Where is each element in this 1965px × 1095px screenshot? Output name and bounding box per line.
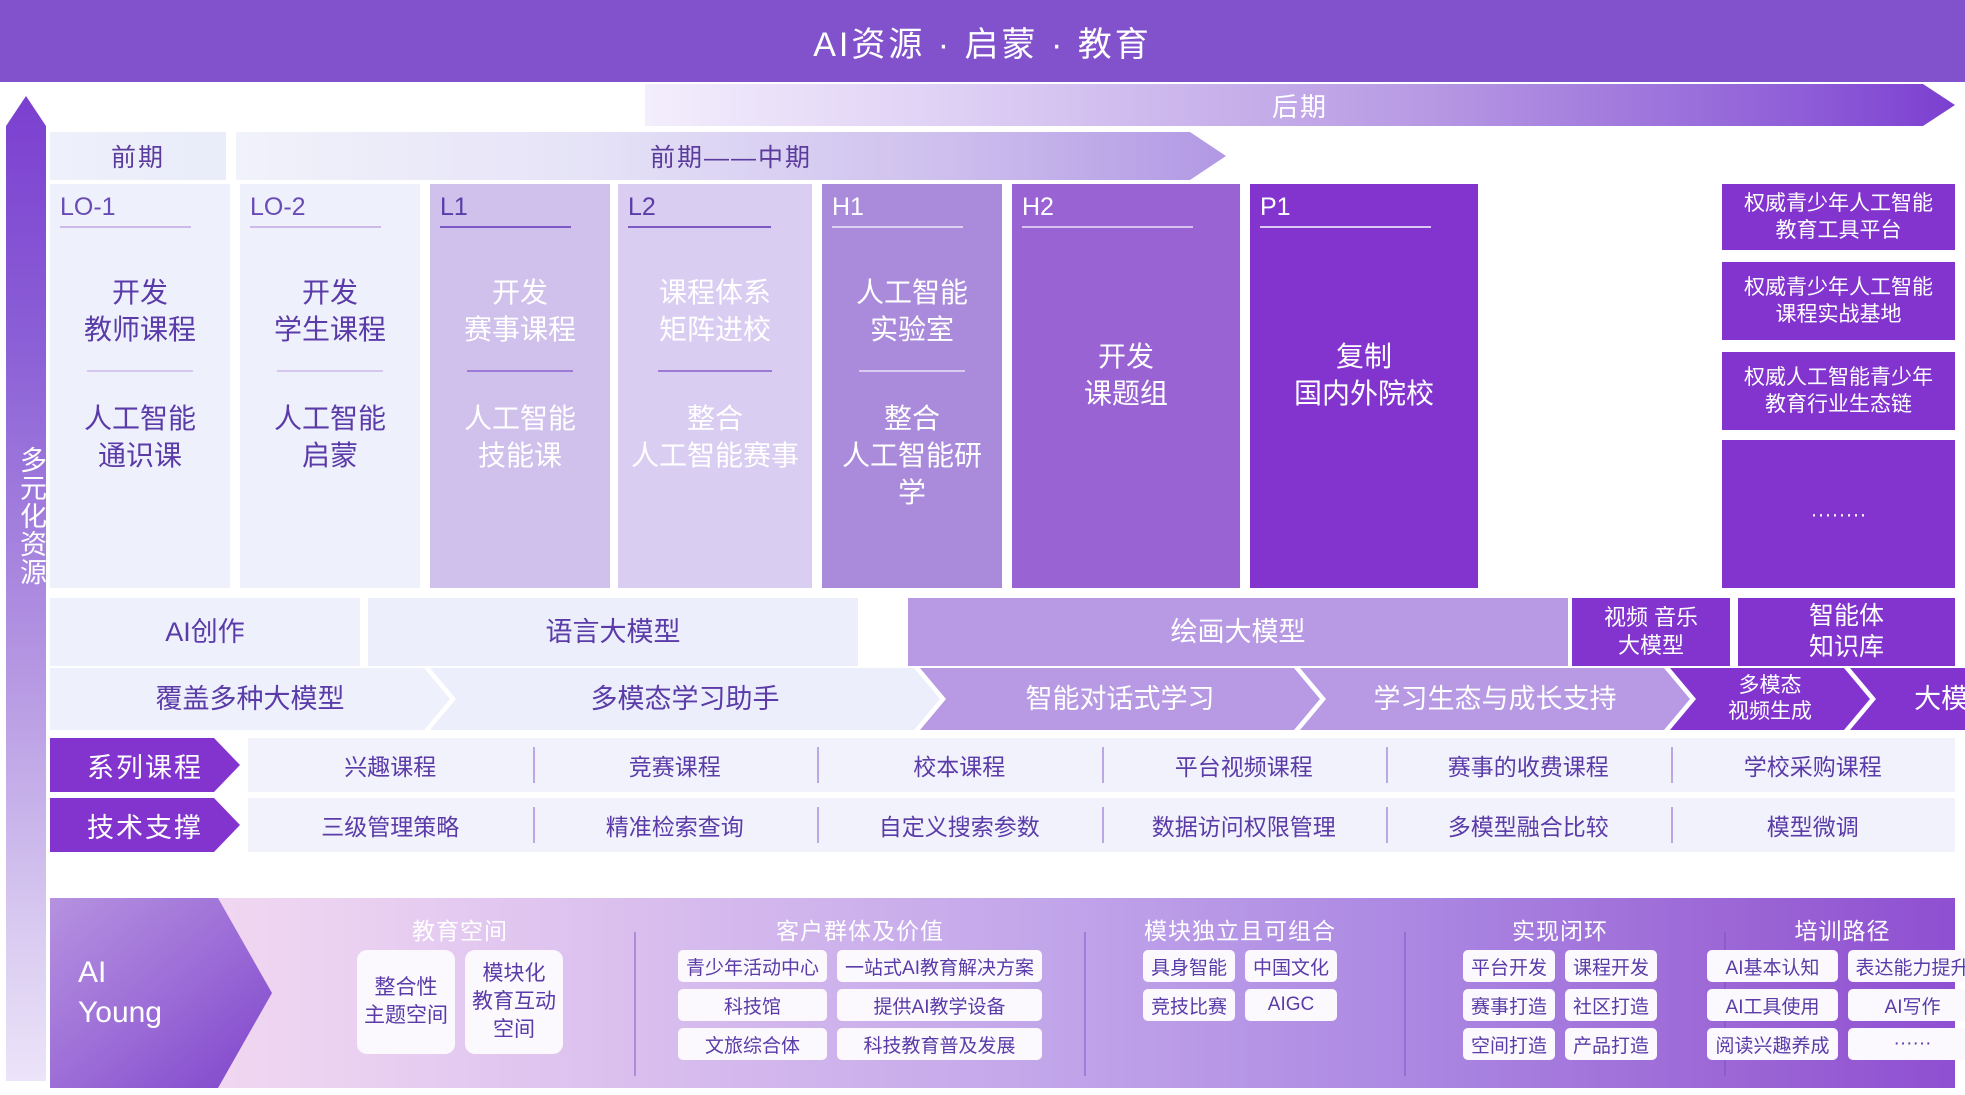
stage-card-secondary-text: 人工智能技能课 [440, 400, 600, 474]
capability-chevron[interactable]: 多模态视频生成 [1670, 668, 1870, 730]
series-course-row: 系列课程 兴趣课程竞赛课程校本课程平台视频课程赛事的收费课程学校采购课程 [50, 738, 1955, 792]
tech-support-items: 三级管理策略精准检索查询自定义搜索参数数据访问权限管理多模型融合比较模型微调 [248, 798, 1955, 852]
stage-card-code: H1 [832, 192, 963, 228]
stage-card-h1[interactable]: H1人工智能实验室整合人工智能研学 [822, 184, 1002, 588]
model-strip-label: 语言大模型 [546, 616, 681, 648]
bottom-group-title: 教育空间 [300, 912, 620, 946]
bottom-pill[interactable]: 文旅综合体 [678, 1028, 827, 1060]
stage-card-lo-2[interactable]: LO-2开发学生课程人工智能启蒙 [240, 184, 420, 588]
stage-card-divider [859, 370, 965, 372]
series-course-tag: 系列课程 [50, 738, 240, 792]
bottom-group-title: 培训路径 [1730, 912, 1955, 946]
bottom-pill[interactable]: AI基本认知 [1707, 950, 1837, 982]
bottom-group-column: AI基本认知AI工具使用阅读兴趣养成 [1707, 950, 1837, 1080]
model-strip-item[interactable]: 视频 音乐大模型 [1572, 598, 1730, 666]
series-course-cell[interactable]: 兴趣课程 [248, 738, 533, 792]
model-strip-label: 视频 音乐大模型 [1604, 604, 1698, 660]
bottom-pill[interactable]: 模块化教育互动空间 [465, 950, 563, 1054]
tech-support-cell[interactable]: 三级管理策略 [248, 798, 533, 852]
stage-card-lo-1[interactable]: LO-1开发教师课程人工智能通识课 [50, 184, 230, 588]
bottom-group: 培训路径AI基本认知AI工具使用阅读兴趣养成表达能力提升AI写作······ [1730, 898, 1955, 1088]
credential-item[interactable]: 权威青少年人工智能课程实战基地 [1722, 262, 1955, 340]
series-course-cell[interactable]: 校本课程 [817, 738, 1102, 792]
model-strip-label: 智能体知识库 [1809, 601, 1884, 663]
phase-early-label: 前期 [111, 138, 165, 174]
bottom-group-column: 一站式AI教育解决方案提供AI教学设备科技教育普及发展 [837, 950, 1042, 1080]
credential-label: ········ [1811, 501, 1867, 528]
stage-card-primary-text: 开发教师课程 [60, 274, 220, 348]
stage-card-secondary-text: 人工智能启蒙 [250, 400, 410, 474]
bottom-panel: AI Young 教育空间整合性主题空间模块化教育互动空间客户群体及价值青少年活… [50, 898, 1955, 1088]
brand-line-2: Young [78, 993, 162, 1033]
series-course-cell[interactable]: 平台视频课程 [1102, 738, 1387, 792]
capability-chevron-label: 覆盖多种大模型 [156, 684, 345, 714]
bottom-group-column: 表达能力提升AI写作······ [1848, 950, 1965, 1080]
capability-chevron[interactable]: 多模态学习助手 [430, 668, 940, 730]
stage-card-code: H2 [1022, 192, 1193, 228]
stage-card-l1[interactable]: L1开发赛事课程人工智能技能课 [430, 184, 610, 588]
credential-stack: 权威青少年人工智能教育工具平台权威青少年人工智能课程实战基地权威人工智能青少年教… [1722, 184, 1955, 588]
bottom-group-title: 客户群体及价值 [650, 912, 1070, 946]
model-strip-label: 绘画大模型 [1171, 616, 1306, 648]
tech-support-cell[interactable]: 模型微调 [1671, 798, 1956, 852]
model-strip-item[interactable]: 智能体知识库 [1738, 598, 1955, 666]
bottom-group-title: 模块独立且可组合 [1090, 912, 1390, 946]
page-header: AI资源 · 启蒙 · 教育 [0, 0, 1965, 82]
bottom-group-column: 平台开发赛事打造空间打造 [1463, 950, 1555, 1080]
credential-label: 权威青少年人工智能课程实战基地 [1744, 274, 1933, 328]
credential-item[interactable]: 权威人工智能青少年教育行业生态链 [1722, 352, 1955, 430]
page-title: AI资源 · 启蒙 · 教育 [813, 17, 1152, 66]
stage-card-secondary-text: 整合人工智能赛事 [628, 400, 802, 474]
model-strip-item[interactable]: 语言大模型 [368, 598, 858, 666]
capability-chevron-label: 大模型+ [1914, 684, 1965, 714]
model-strip-item[interactable]: AI创作 [50, 598, 360, 666]
series-course-cell[interactable]: 竞赛课程 [533, 738, 818, 792]
capability-chevron[interactable]: 学习生态与成长支持 [1300, 668, 1690, 730]
bottom-pill[interactable]: AI写作 [1848, 989, 1965, 1021]
bottom-group: 客户群体及价值青少年活动中心科技馆文旅综合体一站式AI教育解决方案提供AI教学设… [650, 898, 1070, 1088]
tech-support-tag: 技术支撑 [50, 798, 240, 852]
credential-label: 权威青少年人工智能教育工具平台 [1744, 190, 1933, 244]
capability-chevron-label: 学习生态与成长支持 [1374, 684, 1617, 714]
brand-line-1: AI [78, 953, 106, 993]
stage-card-code: LO-1 [60, 192, 191, 228]
stage-card-p1[interactable]: P1复制国内外院校 [1250, 184, 1478, 588]
bottom-pill[interactable]: AIGC [1245, 989, 1337, 1021]
series-course-items: 兴趣课程竞赛课程校本课程平台视频课程赛事的收费课程学校采购课程 [248, 738, 1955, 792]
credential-item[interactable]: 权威青少年人工智能教育工具平台 [1722, 184, 1955, 250]
bottom-group-column: 中国文化AIGC [1245, 950, 1337, 1080]
bottom-pill[interactable]: 中国文化 [1245, 950, 1337, 982]
bottom-group-divider [1404, 932, 1406, 1076]
phase-late-label: 后期 [1272, 87, 1328, 124]
stage-card-primary-text: 开发课题组 [1022, 338, 1230, 412]
sidebar-vertical-label: 多元化资源 [6, 426, 46, 606]
stage-card-primary-text: 复制国内外院校 [1260, 338, 1468, 412]
bottom-pill[interactable]: ······ [1848, 1028, 1965, 1060]
stage-card-primary-text: 开发赛事课程 [440, 274, 600, 348]
bottom-group-divider [634, 932, 636, 1076]
stage-card-secondary-text: 整合人工智能研学 [832, 400, 992, 511]
credential-item[interactable]: ········ [1722, 440, 1955, 588]
phase-banner-early: 前期 [50, 132, 226, 180]
capability-chevron-label: 智能对话式学习 [1026, 684, 1215, 714]
capability-chevron-label: 多模态学习助手 [591, 684, 780, 714]
bottom-pill[interactable]: 科技教育普及发展 [837, 1028, 1042, 1060]
tech-support-row: 技术支撑 三级管理策略精准检索查询自定义搜索参数数据访问权限管理多模型融合比较模… [50, 798, 1955, 852]
bottom-pill[interactable]: 产品打造 [1565, 1028, 1657, 1060]
bottom-group-column: 具身智能竞技比赛 [1143, 950, 1235, 1080]
capability-chevron[interactable]: 智能对话式学习 [920, 668, 1320, 730]
series-course-cell[interactable]: 学校采购课程 [1671, 738, 1956, 792]
bottom-pill[interactable]: 提供AI教学设备 [837, 989, 1042, 1021]
stage-card-divider [87, 370, 193, 372]
bottom-pill[interactable]: 社区打造 [1565, 989, 1657, 1021]
bottom-pill[interactable]: 青少年活动中心 [678, 950, 827, 982]
model-strip-label: AI创作 [165, 616, 245, 648]
capability-chevron-label: 多模态视频生成 [1728, 673, 1812, 725]
tech-support-cell[interactable]: 自定义搜索参数 [817, 798, 1102, 852]
bottom-pill[interactable]: 空间打造 [1463, 1028, 1555, 1060]
bottom-pill[interactable]: AI工具使用 [1707, 989, 1837, 1021]
bottom-pill[interactable]: 赛事打造 [1463, 989, 1555, 1021]
bottom-group-column: 青少年活动中心科技馆文旅综合体 [678, 950, 827, 1080]
bottom-pill[interactable]: 阅读兴趣养成 [1707, 1028, 1837, 1060]
bottom-pill[interactable]: 平台开发 [1463, 950, 1555, 982]
stage-card-primary-text: 课程体系矩阵进校 [628, 274, 802, 348]
series-course-cell[interactable]: 赛事的收费课程 [1386, 738, 1671, 792]
stage-card-divider [467, 370, 573, 372]
bottom-group-column: 模块化教育互动空间 [465, 950, 563, 1080]
stage-card-divider [658, 370, 773, 372]
bottom-pill[interactable]: 竞技比赛 [1143, 989, 1235, 1021]
phase-early-to-mid-label: 前期——中期 [650, 138, 812, 174]
stage-card-primary-text: 开发学生课程 [250, 274, 410, 348]
bottom-group: 教育空间整合性主题空间模块化教育互动空间 [300, 898, 620, 1088]
phase-banner-early-to-mid: 前期——中期 [236, 132, 1226, 180]
bottom-group-column: 整合性主题空间 [357, 950, 455, 1080]
diversified-resources-arrow: 多元化资源 [6, 96, 46, 1081]
phase-banner-late: 后期 [645, 84, 1955, 126]
stage-card-code: LO-2 [250, 192, 381, 228]
stage-card-code: L2 [628, 192, 771, 228]
ai-young-brand-arrow: AI Young [50, 898, 272, 1088]
stage-card-secondary-text: 人工智能通识课 [60, 400, 220, 474]
bottom-pill[interactable]: 课程开发 [1565, 950, 1657, 982]
bottom-group-divider [1084, 932, 1086, 1076]
bottom-group: 模块独立且可组合具身智能竞技比赛中国文化AIGC [1090, 898, 1390, 1088]
bottom-group-title: 实现闭环 [1410, 912, 1710, 946]
bottom-group: 实现闭环平台开发赛事打造空间打造课程开发社区打造产品打造 [1410, 898, 1710, 1088]
model-strip-item[interactable]: 绘画大模型 [908, 598, 1568, 666]
bottom-pill[interactable]: 科技馆 [678, 989, 827, 1021]
tech-support-cell[interactable]: 多模型融合比较 [1386, 798, 1671, 852]
tech-support-cell[interactable]: 精准检索查询 [533, 798, 818, 852]
credential-label: 权威人工智能青少年教育行业生态链 [1744, 364, 1933, 418]
stage-card-divider [277, 370, 383, 372]
stage-card-code: P1 [1260, 192, 1431, 228]
bottom-pill[interactable]: 一站式AI教育解决方案 [837, 950, 1042, 982]
bottom-pill[interactable]: 具身智能 [1143, 950, 1235, 982]
stage-card-primary-text: 人工智能实验室 [832, 274, 992, 348]
bottom-pill[interactable]: 整合性主题空间 [357, 950, 455, 1054]
stage-card-code: L1 [440, 192, 571, 228]
stage-card-h2[interactable]: H2开发课题组 [1012, 184, 1240, 588]
bottom-group-column: 课程开发社区打造产品打造 [1565, 950, 1657, 1080]
tech-support-cell[interactable]: 数据访问权限管理 [1102, 798, 1387, 852]
capability-chevron[interactable]: 覆盖多种大模型 [50, 668, 450, 730]
bottom-pill[interactable]: 表达能力提升 [1848, 950, 1965, 982]
stage-card-l2[interactable]: L2课程体系矩阵进校整合人工智能赛事 [618, 184, 812, 588]
